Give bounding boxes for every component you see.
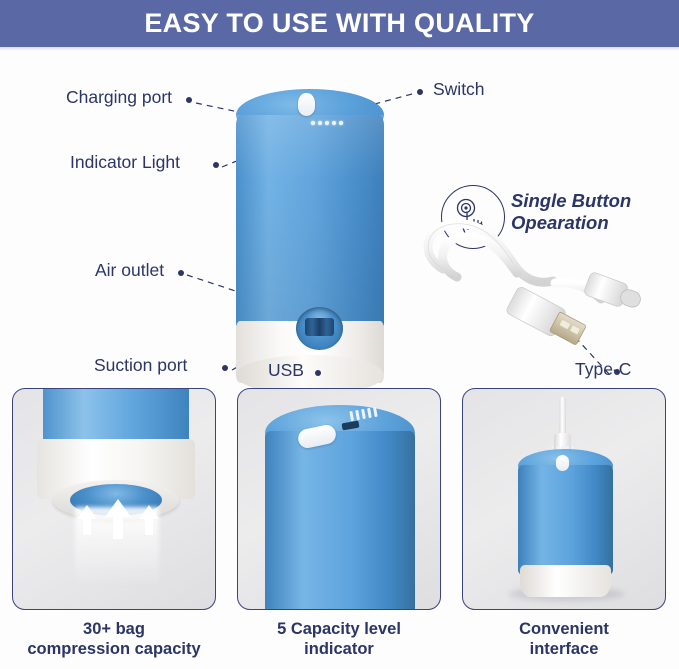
panel-caption-line2: interface [530, 640, 599, 658]
callout-label-air-outlet: Air outlet [95, 260, 164, 281]
feature-panel-compression[interactable]: 30+ bag compression capacity [12, 388, 216, 659]
hero-section: Charging port Indicator Light Air outlet… [0, 51, 679, 385]
feature-badge-line1: Single Button [511, 190, 631, 211]
callout-label-switch: Switch [433, 79, 485, 100]
header-banner: EASY TO USE WITH QUALITY [0, 0, 679, 47]
banner-title: EASY TO USE WITH QUALITY [144, 8, 534, 39]
level-led-2 [355, 410, 360, 420]
callout-label-charging-port: Charging port [66, 87, 172, 108]
pump-body-full [518, 465, 613, 575]
switch-button-full [556, 455, 569, 471]
panel-image-compression [12, 388, 216, 610]
full-led-3 [561, 446, 564, 449]
led-2 [318, 121, 322, 125]
pump-suction-port [296, 307, 343, 350]
panel-image-capacity-indicator [237, 388, 441, 610]
pump-switch-button [298, 93, 315, 116]
pump-indicator-leds [311, 121, 343, 125]
led-1 [311, 121, 315, 125]
led-5 [339, 121, 343, 125]
pump-body-closeup-2 [265, 431, 415, 610]
full-led-2 [556, 446, 559, 449]
callout-dot-air-outlet [178, 270, 184, 276]
callout-label-usb: USB [268, 360, 304, 381]
panel-caption-line2: compression capacity [27, 640, 200, 658]
level-led-3 [361, 409, 366, 419]
level-led-4 [367, 408, 372, 418]
panel-caption-compression: 30+ bag compression capacity [12, 619, 216, 659]
panel-caption-line1: 5 Capacity level [277, 620, 401, 638]
panel-caption-line1: Convenient [519, 620, 609, 638]
full-led-1 [551, 446, 554, 449]
callout-dot-switch [417, 89, 423, 95]
callout-label-indicator-light: Indicator Light [70, 152, 180, 173]
pump-base-full [520, 565, 611, 597]
feature-panel-capacity-indicator[interactable]: 5 Capacity level indicator [237, 388, 441, 659]
full-led-4 [566, 446, 569, 449]
led-3 [325, 121, 329, 125]
led-4 [332, 121, 336, 125]
panel-image-interface [462, 388, 666, 610]
callout-dot-usb [315, 370, 321, 376]
callout-label-suction-port: Suction port [94, 355, 187, 376]
product-air-pump [236, 89, 384, 394]
panel-caption-line2: indicator [304, 640, 374, 658]
usb-cable [405, 211, 670, 376]
callout-dot-indicator-light [213, 162, 219, 168]
indicator-leds-full [551, 446, 574, 449]
panel-caption-capacity-indicator: 5 Capacity level indicator [237, 619, 441, 659]
airflow-arrows-icon [65, 497, 169, 549]
panel-caption-line1: 30+ bag [83, 620, 145, 638]
callout-dot-suction-port [222, 365, 228, 371]
panel-caption-interface: Convenient interface [462, 619, 666, 659]
feature-panel-interface[interactable]: Convenient interface [462, 388, 666, 659]
level-led-1 [349, 411, 354, 421]
full-led-5 [571, 446, 574, 449]
pump-body-shading [236, 115, 384, 333]
pump-body-closeup [43, 388, 189, 445]
feature-panels: 30+ bag compression capacity 5 Capacity … [0, 388, 679, 669]
callout-dot-charging-port [186, 97, 192, 103]
